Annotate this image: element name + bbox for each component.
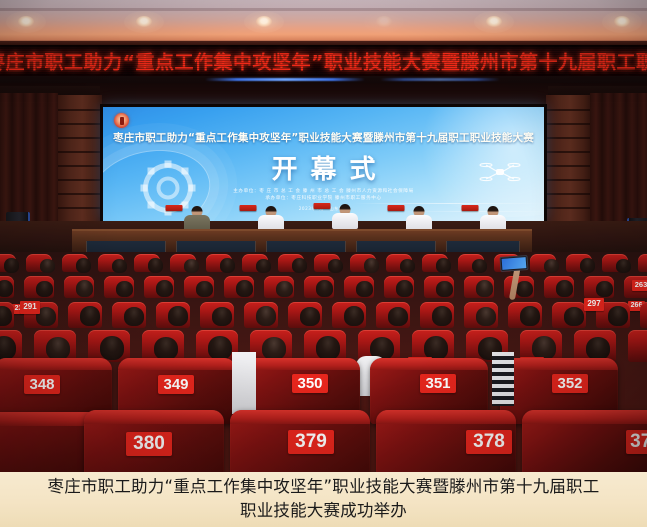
caption-line-1: 枣庄市职工助力“重点工作集中攻坚年”职业技能大赛暨滕州市第十九届职工 bbox=[48, 477, 600, 496]
trade-union-emblem-icon bbox=[114, 113, 129, 128]
seat-number-badge: 291 bbox=[20, 301, 40, 314]
seat-cushion-top bbox=[242, 358, 360, 370]
official-body bbox=[332, 213, 358, 229]
seat-cushion-top bbox=[118, 358, 236, 370]
event-photograph: 枣庄市职工助力“重点工作集中攻坚年”职业技能大赛暨滕州市第十九届职工职业技能大赛 bbox=[0, 0, 647, 472]
seat-number-badge: 297 bbox=[584, 298, 604, 311]
head-table-official bbox=[256, 206, 286, 230]
head-table-official bbox=[182, 206, 212, 230]
smartphone bbox=[500, 255, 529, 272]
ceiling-shadow-line bbox=[0, 8, 647, 11]
blue-light-strip bbox=[205, 78, 365, 81]
screenshot-root: 枣庄市职工助力“重点工作集中攻坚年”职业技能大赛暨滕州市第十九届职工职业技能大赛 bbox=[0, 0, 647, 527]
wood-panel-left bbox=[58, 95, 102, 228]
seat-number-badge: 348 bbox=[24, 375, 60, 394]
ceiling bbox=[0, 0, 647, 42]
led-scrolling-banner: 枣庄市职工助力“重点工作集中攻坚年”职业技能大赛暨滕州市第十九届职工职业技能大赛 bbox=[0, 45, 647, 76]
seat-number-badge: 378 bbox=[466, 430, 512, 454]
official-nameplate bbox=[314, 203, 331, 209]
seat-number-badge: 349 bbox=[158, 375, 194, 394]
stage-curtain-left bbox=[0, 93, 58, 228]
blue-light-strip bbox=[380, 78, 500, 81]
audience-member-white-shirt bbox=[232, 352, 256, 414]
seat-number-badge: 379 bbox=[288, 430, 334, 454]
seat-cushion-top bbox=[0, 358, 112, 370]
seat-cushion-top bbox=[370, 358, 488, 370]
seat-number-badge: 351 bbox=[420, 374, 456, 393]
audience-member-striped-shirt bbox=[492, 352, 514, 406]
ceiling-downlight bbox=[256, 16, 272, 27]
seat-number-badge: 352 bbox=[552, 374, 588, 393]
screen-light-streak bbox=[353, 203, 543, 204]
seat-number-badge: 263 bbox=[632, 280, 647, 291]
ceiling-downlight bbox=[614, 16, 630, 27]
screen-organizers-line-2: 承办单位：枣庄科技职业学院 滕州市职工服务中心 bbox=[103, 196, 544, 202]
ceiling-downlight bbox=[486, 16, 502, 27]
official-nameplate bbox=[166, 205, 183, 211]
stage-curtain-right bbox=[590, 93, 647, 228]
head-table-official bbox=[330, 204, 360, 228]
screen-title-text: 枣庄市职工助力“重点工作集中攻坚年”职业技能大赛暨滕州市第十九届职工职业技能大赛 bbox=[103, 130, 544, 145]
screen-organizers-line-1: 主办单位：枣 庄 市 总 工 会 滕 州 市 总 工 会 滕州市人力资源和社会保… bbox=[103, 189, 544, 195]
ceiling-downlight bbox=[136, 16, 152, 27]
official-nameplate bbox=[462, 205, 479, 211]
seat-cushion-top bbox=[376, 410, 516, 424]
seat-cushion-top bbox=[522, 410, 647, 424]
seat-number-badge: 350 bbox=[292, 374, 328, 393]
caption-line-2: 职业技能大赛成功举办 bbox=[240, 501, 407, 520]
seat-cushion-top bbox=[500, 358, 618, 370]
led-banner-text: 枣庄市职工助力“重点工作集中攻坚年”职业技能大赛暨滕州市第十九届职工职业技能大赛 bbox=[0, 47, 647, 74]
seat-number-badge: 380 bbox=[126, 432, 172, 456]
seat-number-badge: 377 bbox=[626, 430, 647, 454]
seat-cushion-top bbox=[84, 410, 224, 424]
seat-cushion-top bbox=[230, 410, 370, 424]
ceiling-downlight bbox=[376, 16, 392, 27]
head-table-official bbox=[478, 206, 508, 230]
official-nameplate bbox=[240, 205, 257, 211]
head-table-official bbox=[404, 206, 434, 230]
ceiling-downlight bbox=[18, 16, 34, 27]
official-nameplate bbox=[388, 205, 405, 211]
caption-text: 枣庄市职工助力“重点工作集中攻坚年”职业技能大赛暨滕州市第十九届职工 职业技能大… bbox=[48, 475, 600, 523]
photo-caption: 枣庄市职工助力“重点工作集中攻坚年”职业技能大赛暨滕州市第十九届职工 职业技能大… bbox=[0, 472, 647, 527]
drone-graphic-icon bbox=[478, 159, 522, 185]
wood-panel-right bbox=[546, 95, 590, 228]
